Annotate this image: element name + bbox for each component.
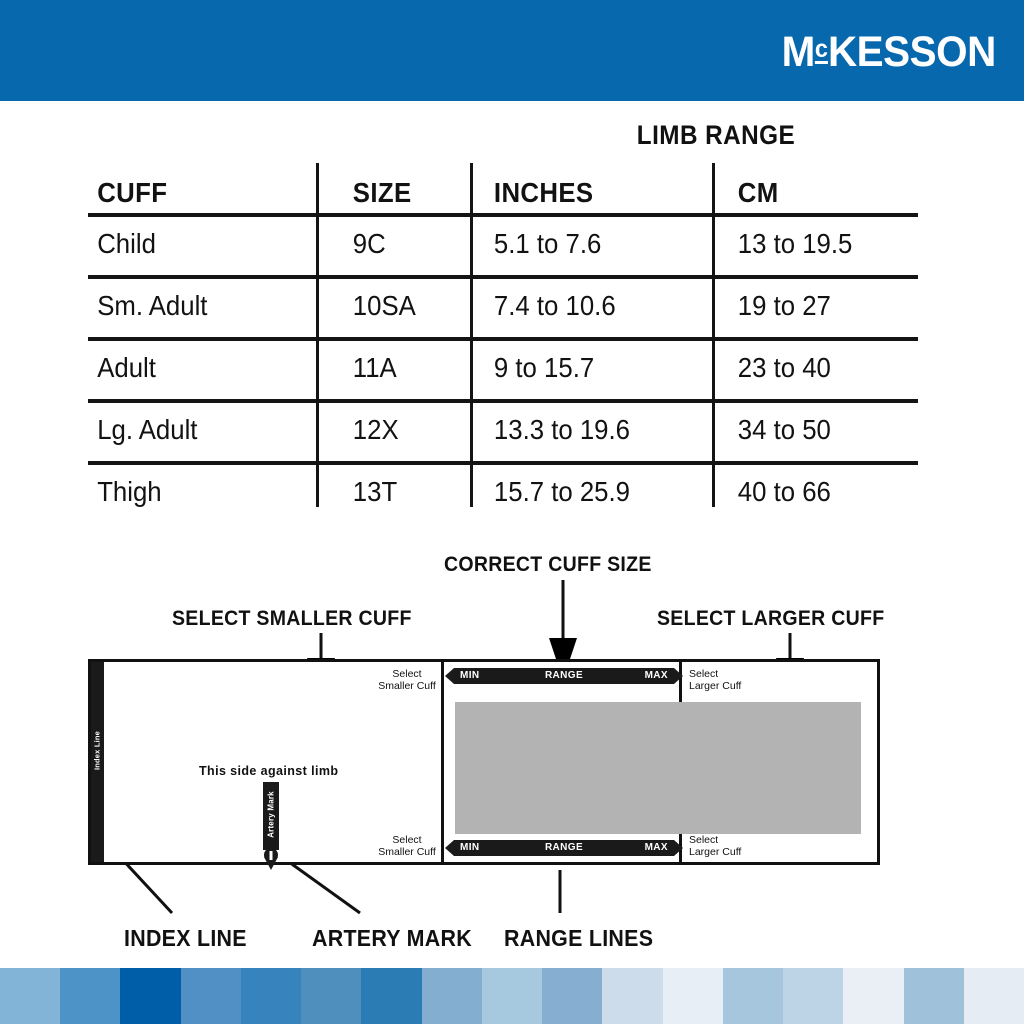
table-row: Thigh 13T 15.7 to 25.9 40 to 66 xyxy=(88,461,918,523)
cell-inches: 13.3 to 19.6 xyxy=(470,414,693,446)
cuff-section-divider-left xyxy=(441,662,444,862)
color-swatch xyxy=(0,968,60,1024)
logo-text-prefix: M xyxy=(782,28,815,76)
select-larger-cuff-label-bottom: Select Larger Cuff xyxy=(689,834,753,858)
range-line-bottom: MIN RANGE MAX xyxy=(445,840,683,856)
mckesson-logo: McKESSON xyxy=(782,26,996,75)
callout-correct-cuff-size: CORRECT CUFF SIZE xyxy=(444,553,652,577)
logo-text-superscript: c xyxy=(815,35,828,63)
range-line-top: MIN RANGE MAX xyxy=(445,668,683,684)
cell-inches: 9 to 15.7 xyxy=(470,352,693,384)
index-line-label: Index Line xyxy=(93,714,102,788)
range-max-label: MAX xyxy=(645,670,668,681)
cell-cuff: Child xyxy=(88,228,298,260)
select-larger-line2: Larger Cuff xyxy=(689,680,741,692)
cell-cuff: Sm. Adult xyxy=(88,290,298,322)
color-swatch xyxy=(120,968,180,1024)
color-swatch xyxy=(723,968,783,1024)
color-swatch xyxy=(422,968,482,1024)
cell-cuff: Adult xyxy=(88,352,298,384)
table-row: Sm. Adult 10SA 7.4 to 10.6 19 to 27 xyxy=(88,275,918,337)
header-underline xyxy=(0,93,1024,101)
table-header-row: CUFF SIZE INCHES CM xyxy=(88,163,918,213)
color-swatch xyxy=(602,968,662,1024)
cell-inches: 7.4 to 10.6 xyxy=(470,290,693,322)
color-swatch xyxy=(60,968,120,1024)
select-larger-line1: Select xyxy=(689,668,718,680)
color-swatch xyxy=(241,968,301,1024)
cell-inches: 5.1 to 7.6 xyxy=(470,228,693,260)
cell-inches: 15.7 to 25.9 xyxy=(470,476,693,508)
cell-cm: 40 to 66 xyxy=(712,476,902,508)
cell-cm: 13 to 19.5 xyxy=(712,228,902,260)
artery-mark-pointer-icon xyxy=(261,848,281,870)
artery-mark-bar: Artery Mark xyxy=(263,782,279,850)
cell-cm: 19 to 27 xyxy=(712,290,902,322)
color-swatch xyxy=(361,968,421,1024)
color-swatch xyxy=(181,968,241,1024)
color-swatch xyxy=(482,968,542,1024)
table-header-inches: INCHES xyxy=(470,177,693,213)
select-smaller-line2: Smaller Cuff xyxy=(378,680,436,692)
cuff-illustration: Index Line This side against limb Artery… xyxy=(88,659,880,865)
cuff-size-table: CUFF SIZE INCHES CM Child 9C 5.1 to 7.6 … xyxy=(88,163,918,523)
callout-range-lines: RANGE LINES xyxy=(504,925,653,952)
limb-range-group-header: LIMB RANGE xyxy=(534,120,898,151)
callout-select-larger-cuff: SELECT LARGER CUFF xyxy=(657,607,884,631)
cell-size: 13T xyxy=(316,476,458,508)
select-smaller-line2: Smaller Cuff xyxy=(378,846,436,858)
color-swatch xyxy=(663,968,723,1024)
select-larger-line2: Larger Cuff xyxy=(689,846,741,858)
color-swatch xyxy=(964,968,1024,1024)
cell-size: 10SA xyxy=(316,290,458,322)
color-swatch xyxy=(843,968,903,1024)
index-line-bar: Index Line xyxy=(91,662,104,862)
table-header-size: SIZE xyxy=(316,177,458,213)
artery-mark-label: Artery Mark xyxy=(267,785,276,845)
cell-size: 11A xyxy=(316,352,458,384)
logo-text-rest: KESSON xyxy=(828,28,996,76)
table-header-cm: CM xyxy=(712,177,902,213)
select-smaller-line1: Select xyxy=(392,834,421,846)
color-swatch xyxy=(301,968,361,1024)
table-row: Adult 11A 9 to 15.7 23 to 40 xyxy=(88,337,918,399)
table-row: Lg. Adult 12X 13.3 to 19.6 34 to 50 xyxy=(88,399,918,461)
cell-size: 9C xyxy=(316,228,458,260)
table-header-cuff: CUFF xyxy=(88,177,298,213)
select-smaller-cuff-label-bottom: Select Smaller Cuff xyxy=(377,834,437,858)
select-smaller-line1: Select xyxy=(392,668,421,680)
callout-select-smaller-cuff: SELECT SMALLER CUFF xyxy=(172,607,412,631)
against-limb-text: This side against limb xyxy=(199,764,338,778)
color-swatch xyxy=(542,968,602,1024)
leader-line-artery xyxy=(289,862,360,913)
cell-size: 12X xyxy=(316,414,458,446)
cell-cuff: Lg. Adult xyxy=(88,414,298,446)
bottom-color-strip xyxy=(0,968,1024,1024)
color-swatch xyxy=(904,968,964,1024)
callout-artery-mark: ARTERY MARK xyxy=(312,925,472,952)
range-max-label: MAX xyxy=(645,842,668,853)
select-smaller-cuff-label-top: Select Smaller Cuff xyxy=(377,668,437,692)
select-larger-cuff-label-top: Select Larger Cuff xyxy=(689,668,753,692)
color-swatch xyxy=(783,968,843,1024)
callout-index-line: INDEX LINE xyxy=(124,925,247,952)
select-larger-line1: Select xyxy=(689,834,718,846)
cell-cuff: Thigh xyxy=(88,476,298,508)
cell-cm: 34 to 50 xyxy=(712,414,902,446)
bladder-rectangle xyxy=(455,702,861,834)
table-row: Child 9C 5.1 to 7.6 13 to 19.5 xyxy=(88,213,918,275)
cell-cm: 23 to 40 xyxy=(712,352,902,384)
